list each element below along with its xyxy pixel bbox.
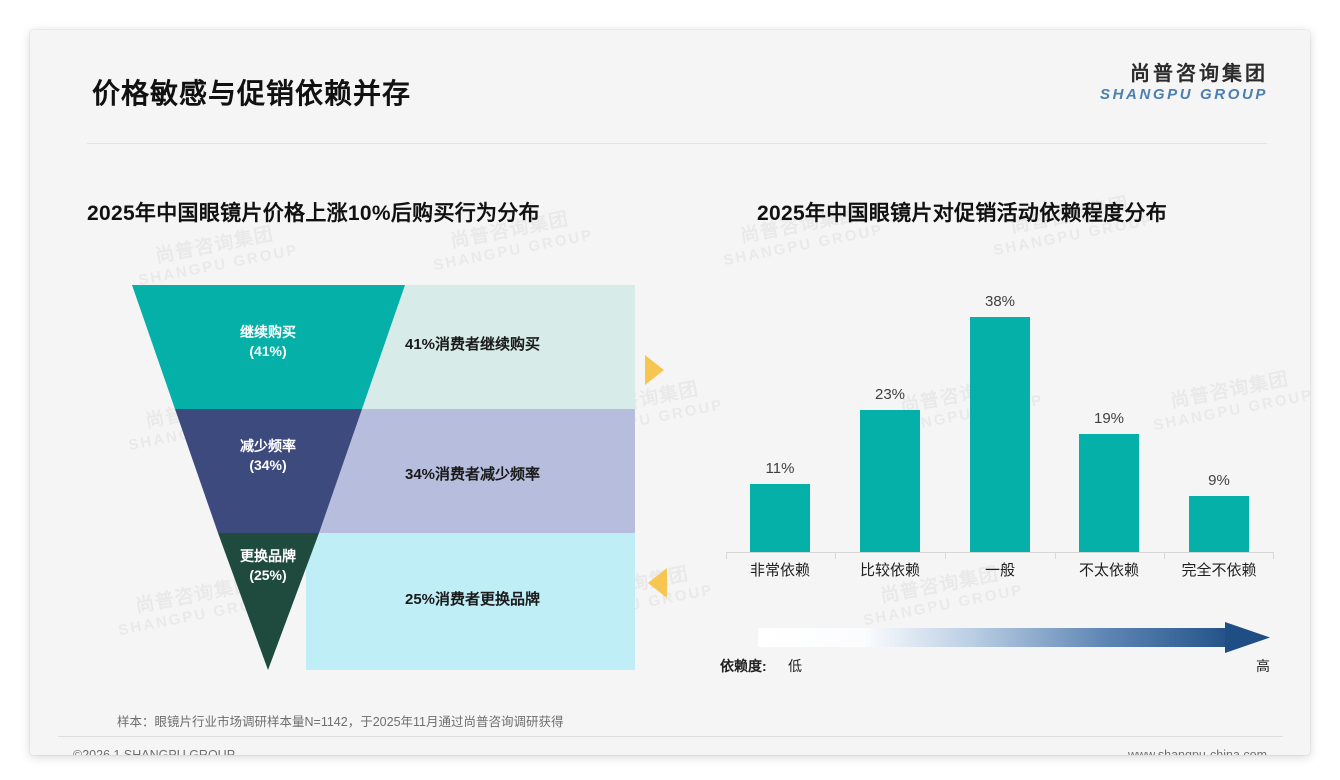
dependency-legend: 依赖度: 低 高 (720, 620, 1280, 682)
brand-logo: 尚普咨询集团 SHANGPU GROUP (1100, 63, 1268, 104)
funnel-stage-value-1: (34%) (208, 456, 328, 475)
funnel-desc-0: 41%消费者继续购买 (405, 333, 540, 354)
bar-value-0: 11% (750, 460, 810, 477)
bar-item: 19% (1079, 410, 1139, 552)
bar-category-1: 比较依赖 (830, 559, 950, 580)
logo-cn-text: 尚普咨询集团 (1100, 63, 1268, 85)
bar-rect-2 (970, 317, 1030, 552)
funnel-desc-1: 34%消费者减少频率 (405, 463, 540, 484)
bar-rect-3 (1079, 434, 1139, 552)
footer-website[interactable]: www.shangpu-china.com (1128, 748, 1267, 755)
title-divider (87, 143, 1267, 144)
funnel-svg (100, 285, 635, 670)
bar-category-3: 不太依赖 (1049, 559, 1169, 580)
bar-category-0: 非常依赖 (720, 559, 840, 580)
watermark-en: SHANGPU GROUP (137, 241, 300, 289)
bar-value-1: 23% (860, 386, 920, 403)
bar-rect-1 (860, 410, 920, 552)
triangle-right-icon (645, 355, 664, 385)
funnel-chart: 继续购买 (41%) 减少频率 (34%) 更换品牌 (25%) 41%消费者继… (100, 285, 635, 670)
gradient-arrow-icon (720, 620, 1280, 656)
right-chart-title: 2025年中国眼镜片对促销活动依赖程度分布 (757, 197, 1167, 227)
left-chart-title: 2025年中国眼镜片价格上涨10%后购买行为分布 (87, 197, 540, 227)
funnel-stage-name-1: 减少频率 (208, 437, 328, 456)
bar-category-4: 完全不依赖 (1159, 559, 1279, 580)
footer-copyright: ©2026.1 SHANGPU GROUP (73, 748, 235, 755)
bar-item: 38% (970, 293, 1030, 552)
bar-value-4: 9% (1189, 472, 1249, 489)
bar-item: 11% (750, 460, 810, 552)
legend-label: 依赖度: (720, 656, 767, 676)
bar-value-3: 19% (1079, 410, 1139, 427)
logo-en-text: SHANGPU GROUP (1100, 86, 1268, 104)
funnel-stage-name-2: 更换品牌 (208, 547, 328, 566)
bar-axis-line (726, 552, 1274, 553)
page-title: 价格敏感与促销依赖并存 (92, 72, 411, 112)
funnel-stage-label-0: 继续购买 (41%) (208, 323, 328, 361)
bar-item: 23% (860, 386, 920, 552)
funnel-stage-value-0: (41%) (208, 342, 328, 361)
watermark: 尚普咨询集团 SHANGPU GROUP (133, 220, 300, 289)
funnel-stage-label-2: 更换品牌 (25%) (208, 547, 328, 585)
triangle-left-icon (648, 568, 667, 598)
watermark-cn: 尚普咨询集团 (133, 220, 297, 273)
bar-rect-0 (750, 484, 810, 552)
sample-note: 样本：眼镜片行业市场调研样本量N=1142，于2025年11月通过尚普咨询调研获… (117, 711, 564, 730)
watermark-en: SHANGPU GROUP (432, 226, 595, 274)
watermark-en: SHANGPU GROUP (722, 221, 885, 269)
funnel-stage-name-0: 继续购买 (208, 323, 328, 342)
bar-category-2: 一般 (940, 559, 1060, 580)
bar-item: 9% (1189, 472, 1249, 552)
slide-card: 尚普咨询集团 SHANGPU GROUP 尚普咨询集团 SHANGPU GROU… (30, 30, 1310, 755)
bar-rect-4 (1189, 496, 1249, 552)
bar-chart: 11% 23% 38% 19% 9% 非常依赖 比较依赖 一般 不太依赖 完全不… (720, 280, 1280, 580)
footer-divider (58, 736, 1283, 737)
funnel-desc-2: 25%消费者更换品牌 (405, 588, 540, 609)
legend-low-label: 低 (788, 656, 802, 676)
header: 价格敏感与促销依赖并存 尚普咨询集团 SHANGPU GROUP (30, 30, 1310, 122)
funnel-stage-label-1: 减少频率 (34%) (208, 437, 328, 475)
legend-high-label: 高 (1256, 656, 1270, 676)
funnel-stage-value-2: (25%) (208, 566, 328, 585)
bar-value-2: 38% (970, 293, 1030, 310)
